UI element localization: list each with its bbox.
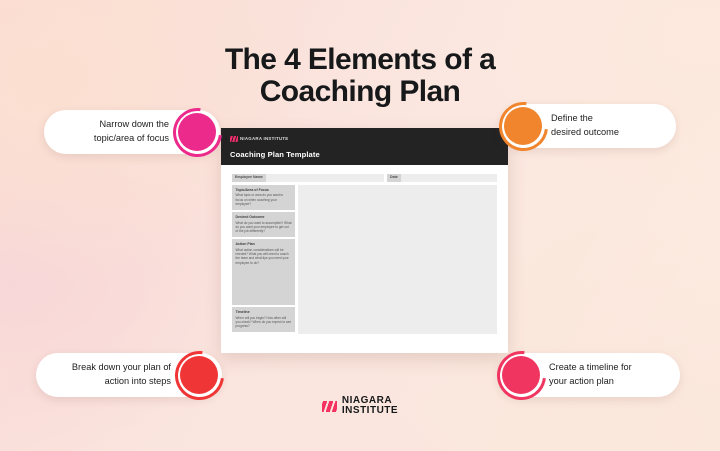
document-logo-text: NIAGARA INSTITUTE — [240, 137, 288, 141]
section-topic-area-of-focus: Topic/Area of Focus What topic or area d… — [232, 185, 295, 210]
callout-step-1-number: 1 — [193, 124, 201, 140]
document-title: Coaching Plan Template — [230, 150, 499, 159]
brand-name: NIAGARA INSTITUTE — [342, 396, 398, 417]
callout-step-1-text: Narrow down the topic/area of focus — [94, 118, 169, 146]
document-logo: NIAGARA INSTITUTE — [230, 135, 499, 143]
brand-line-2: INSTITUTE — [342, 406, 398, 416]
coaching-plan-document: NIAGARA INSTITUTE Coaching Plan Template… — [221, 128, 508, 353]
section-body: What action considerations will be neede… — [236, 248, 292, 266]
title-line-2: Coaching Plan — [0, 76, 720, 108]
employee-name-field: Employee Name — [232, 174, 384, 182]
section-body: What do you want to accomplish? What do … — [236, 221, 292, 234]
infographic-canvas: The 4 Elements of a Coaching Plan NIAGAR… — [0, 0, 720, 451]
callout-step-3-text: Break down your plan of action into step… — [72, 361, 171, 389]
callout-step-4-text: Create a timeline for your action plan — [549, 361, 632, 389]
title-line-1: The 4 Elements of a — [225, 43, 495, 76]
callout-step-4-badge: 4 — [502, 356, 540, 394]
document-prompt-column: Topic/Area of Focus What topic or area d… — [232, 185, 295, 334]
callout-step-1-badge: 1 — [178, 113, 216, 151]
section-timeline: Timeline When will you begin? How often … — [232, 307, 295, 332]
section-body: What topic or area do you want to focus … — [236, 193, 292, 206]
date-value — [401, 174, 497, 182]
document-notes-column — [298, 185, 497, 334]
callout-step-1[interactable]: Narrow down the topic/area of focus 1 — [44, 110, 220, 154]
niagara-slashes-icon — [322, 401, 337, 412]
date-label: Date — [387, 174, 401, 182]
callout-step-4[interactable]: 4 Create a timeline for your action plan — [498, 353, 680, 397]
document-header: NIAGARA INSTITUTE Coaching Plan Template — [221, 128, 508, 165]
section-body: When will you begin? How often will you … — [236, 316, 292, 329]
document-body: Employee Name Date Topic/Area of Focus W… — [221, 165, 508, 334]
employee-name-label: Employee Name — [232, 174, 266, 182]
niagara-slashes-icon — [230, 136, 238, 142]
section-heading: Desired Outcome — [236, 215, 292, 219]
date-field: Date — [387, 174, 497, 182]
callout-step-3[interactable]: Break down your plan of action into step… — [36, 353, 222, 397]
document-table: Topic/Area of Focus What topic or area d… — [232, 185, 497, 334]
callout-step-2-badge: 2 — [504, 107, 542, 145]
page-title: The 4 Elements of a Coaching Plan — [0, 44, 720, 109]
callout-step-3-number: 3 — [195, 367, 203, 383]
callout-step-4-number: 4 — [517, 367, 525, 383]
document-field-row: Employee Name Date — [232, 174, 497, 182]
section-heading: Timeline — [236, 310, 292, 314]
callout-step-2-text: Define the desired outcome — [551, 112, 619, 140]
section-desired-outcome: Desired Outcome What do you want to acco… — [232, 212, 295, 237]
callout-step-3-badge: 3 — [180, 356, 218, 394]
section-action-plan: Action Plan What action considerations w… — [232, 239, 295, 305]
callout-step-2[interactable]: 2 Define the desired outcome — [500, 104, 676, 148]
section-heading: Action Plan — [236, 242, 292, 246]
employee-name-value — [266, 174, 384, 182]
brand-line-1: NIAGARA — [342, 395, 392, 406]
brand-footer: NIAGARA INSTITUTE — [0, 396, 720, 417]
callout-step-2-number: 2 — [519, 118, 527, 134]
section-heading: Topic/Area of Focus — [236, 188, 292, 192]
